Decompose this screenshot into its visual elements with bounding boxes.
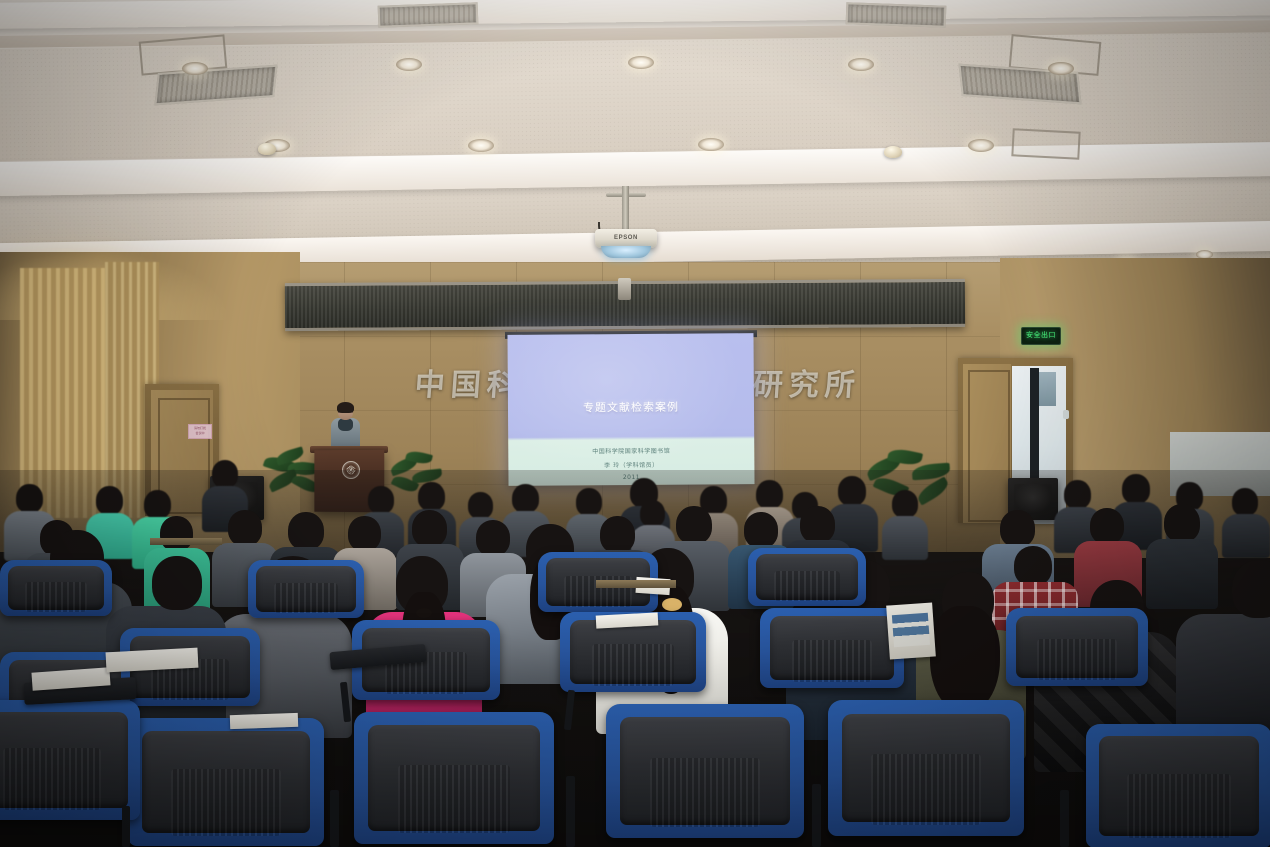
chair-row3-1[interactable] bbox=[248, 560, 364, 618]
downlight-8 bbox=[698, 138, 724, 151]
downlight-3 bbox=[628, 56, 654, 69]
paper-row2 bbox=[230, 713, 298, 729]
presenter-hair bbox=[337, 402, 354, 413]
downlight-4 bbox=[848, 58, 874, 71]
chair-row3-0[interactable] bbox=[0, 560, 112, 616]
projector-lens bbox=[601, 246, 651, 258]
projection-screen: 专题文献检索案例 中国科学院国家科学图书馆 李 玲（学科馆员） 2011 bbox=[507, 333, 754, 486]
chair-row1-2[interactable] bbox=[354, 712, 554, 844]
chair-leg-1 bbox=[330, 790, 339, 847]
ceiling-access-panel-right-2 bbox=[1011, 128, 1080, 160]
chair-leg-2 bbox=[566, 776, 575, 847]
smoke-detector-right bbox=[884, 146, 902, 158]
chair-row1-1[interactable] bbox=[128, 718, 324, 846]
chair-row1-5[interactable] bbox=[1086, 724, 1270, 847]
chair-leg-4 bbox=[1060, 790, 1069, 847]
slide-subtitle-presenter: 李 玲（学科馆员） bbox=[508, 459, 754, 470]
chair-row1-0[interactable] bbox=[0, 700, 140, 820]
smoke-detector-left bbox=[258, 143, 276, 155]
brochure-right bbox=[886, 602, 936, 659]
hvac-vent-front-left bbox=[378, 2, 479, 27]
chair-row2-5[interactable] bbox=[1006, 608, 1148, 686]
desk-surface-left bbox=[150, 538, 222, 545]
corridor-window bbox=[1039, 372, 1056, 406]
projector-brand-label: EPSON bbox=[595, 235, 657, 241]
lecture-hall-photo: 中国科 研究所 请勿打扰 会议中 安全出口 EPSON 专题文献检索案例 中国科… bbox=[0, 0, 1270, 847]
exit-sign: 安全出口 bbox=[1021, 327, 1061, 345]
downlight-9 bbox=[968, 139, 994, 152]
door-sign-line2: 会议中 bbox=[189, 430, 211, 435]
slide-title: 专题文献检索案例 bbox=[508, 398, 754, 416]
chair-row1-3[interactable] bbox=[606, 704, 804, 838]
slide-subtitle-organization: 中国科学院国家科学图书馆 bbox=[508, 445, 754, 456]
corridor-light-switch[interactable] bbox=[1063, 410, 1069, 419]
projector-mount-pole bbox=[622, 186, 629, 230]
chair-row3-3[interactable] bbox=[748, 548, 866, 606]
exit-sign-label: 安全出口 bbox=[1026, 332, 1056, 340]
downlight-5 bbox=[1048, 62, 1074, 75]
chair-row1-4[interactable] bbox=[828, 700, 1024, 836]
chair-row2-4[interactable] bbox=[760, 608, 904, 688]
desk-surface-center bbox=[596, 580, 676, 588]
valance-bracket bbox=[618, 278, 631, 300]
wall-calligraphy-right: 研究所 bbox=[751, 360, 862, 404]
downlight-7 bbox=[468, 139, 494, 152]
chair-leg-5 bbox=[122, 806, 130, 847]
hvac-vent-front-right bbox=[846, 2, 947, 27]
downlight-2 bbox=[396, 58, 422, 71]
chair-leg-3 bbox=[812, 784, 821, 847]
downlight-1 bbox=[182, 62, 208, 75]
door-left-sign: 请勿打扰 会议中 bbox=[188, 424, 212, 439]
